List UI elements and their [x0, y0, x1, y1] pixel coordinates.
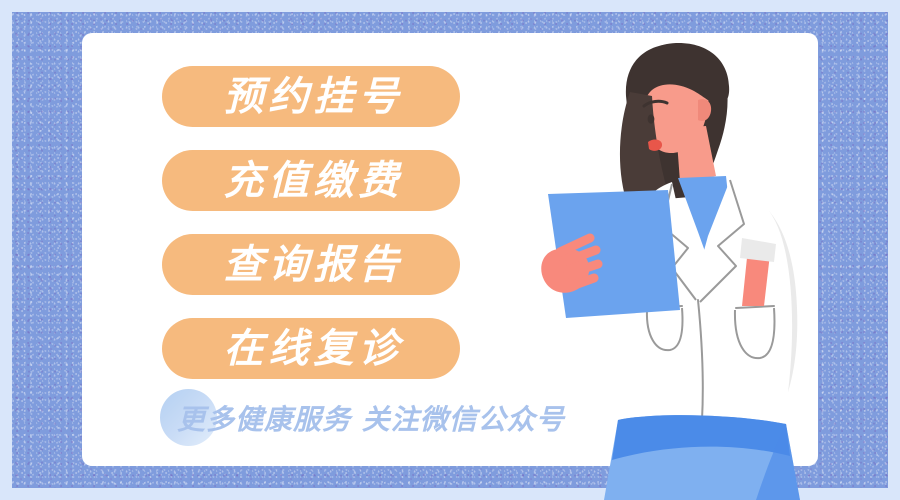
white-card: 预约挂号 充值缴费 查询报告 在线复诊 更多健康服务 关注微信公众号 [82, 33, 818, 466]
service-button-report[interactable]: 查询报告 [162, 234, 460, 295]
promo-banner: 预约挂号 充值缴费 查询报告 在线复诊 更多健康服务 关注微信公众号 [0, 0, 900, 500]
service-button-label: 预约挂号 [162, 66, 460, 127]
service-button-recharge[interactable]: 充值缴费 [162, 150, 460, 211]
footer-callout: 更多健康服务 关注微信公众号 [160, 389, 565, 447]
service-button-label: 查询报告 [162, 234, 460, 295]
service-button-appointment[interactable]: 预约挂号 [162, 66, 460, 127]
service-button-list: 预约挂号 充值缴费 查询报告 在线复诊 [162, 66, 462, 402]
service-button-online-revisit[interactable]: 在线复诊 [162, 318, 460, 379]
service-button-label: 在线复诊 [162, 318, 460, 379]
service-button-label: 充值缴费 [162, 150, 460, 211]
footer-callout-text: 更多健康服务 关注微信公众号 [177, 398, 565, 438]
